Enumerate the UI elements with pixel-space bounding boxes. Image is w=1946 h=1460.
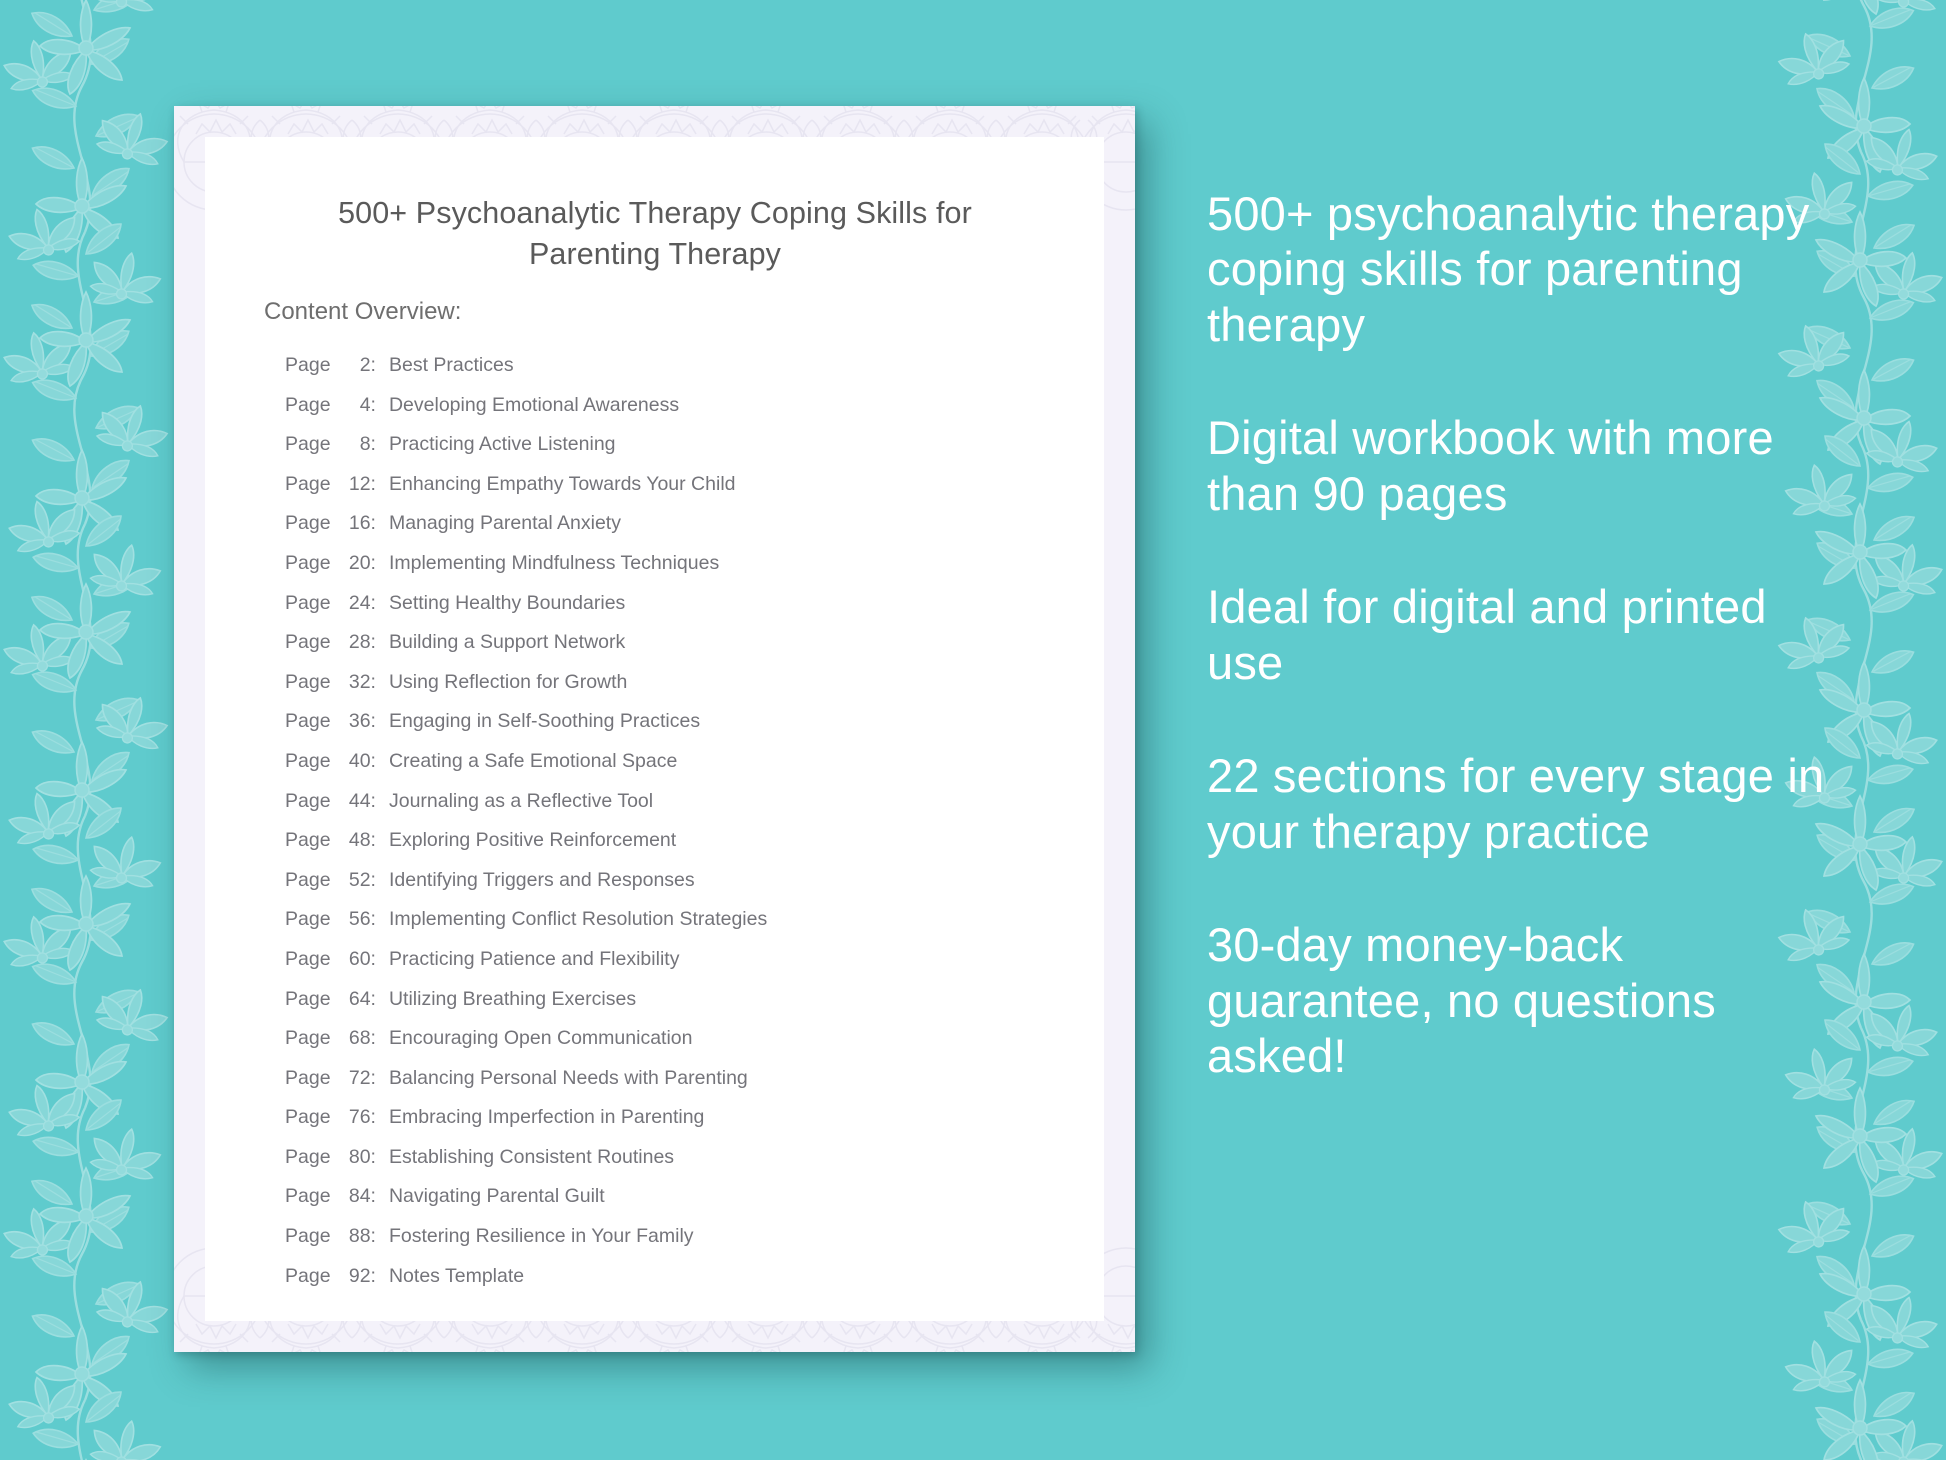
toc-entry-title: Fostering Resilience in Your Family (389, 1225, 694, 1248)
toc-page-number: 2 (337, 354, 371, 377)
toc-colon: : (371, 908, 376, 931)
toc-row: Page 52 : Identifying Triggers and Respo… (285, 869, 1075, 909)
toc-colon: : (371, 869, 376, 892)
toc-page-number: 84 (337, 1185, 371, 1208)
toc-colon: : (371, 829, 376, 852)
toc-page-word: Page (285, 394, 331, 417)
toc-page-word: Page (285, 671, 331, 694)
promo-usage: Ideal for digital and printed use (1207, 579, 1847, 690)
toc-page-word: Page (285, 433, 331, 456)
toc-page-word: Page (285, 1146, 331, 1169)
toc-colon: : (371, 394, 376, 417)
toc-page-word: Page (285, 1265, 331, 1288)
floral-border-left-icon (0, 0, 200, 1460)
table-of-contents: Page 2 : Best Practices Page 4 : Develop… (285, 354, 1075, 1304)
toc-page-word: Page (285, 750, 331, 773)
toc-row: Page 4 : Developing Emotional Awareness (285, 394, 1075, 434)
toc-colon: : (371, 354, 376, 377)
toc-row: Page 2 : Best Practices (285, 354, 1075, 394)
toc-entry-title: Embracing Imperfection in Parenting (389, 1106, 704, 1129)
toc-row: Page 12 : Enhancing Empathy Towards Your… (285, 473, 1075, 513)
toc-page-number: 60 (337, 948, 371, 971)
toc-page-word: Page (285, 592, 331, 615)
toc-entry-title: Building a Support Network (389, 631, 625, 654)
toc-page-word: Page (285, 948, 331, 971)
toc-colon: : (371, 790, 376, 813)
toc-entry-title: Best Practices (389, 354, 514, 377)
toc-entry-title: Notes Template (389, 1265, 524, 1288)
promo-pages: Digital workbook with more than 90 pages (1207, 410, 1847, 521)
toc-row: Page 20 : Implementing Mindfulness Techn… (285, 552, 1075, 592)
toc-page-number: 16 (337, 512, 371, 535)
content-overview-label: Content Overview: (264, 298, 461, 326)
toc-row: Page 80 : Establishing Consistent Routin… (285, 1146, 1075, 1186)
toc-colon: : (371, 1185, 376, 1208)
toc-page-word: Page (285, 710, 331, 733)
toc-page-word: Page (285, 1106, 331, 1129)
toc-entry-title: Implementing Mindfulness Techniques (389, 552, 719, 575)
toc-row: Page 48 : Exploring Positive Reinforceme… (285, 829, 1075, 869)
toc-page-number: 76 (337, 1106, 371, 1129)
toc-row: Page 60 : Practicing Patience and Flexib… (285, 948, 1075, 988)
toc-row: Page 28 : Building a Support Network (285, 631, 1075, 671)
toc-colon: : (371, 1106, 376, 1129)
toc-page-word: Page (285, 829, 331, 852)
toc-entry-title: Balancing Personal Needs with Parenting (389, 1067, 748, 1090)
toc-entry-title: Setting Healthy Boundaries (389, 592, 625, 615)
toc-page-number: 4 (337, 394, 371, 417)
toc-entry-title: Implementing Conflict Resolution Strateg… (389, 908, 767, 931)
toc-page-word: Page (285, 790, 331, 813)
toc-page-word: Page (285, 631, 331, 654)
toc-page-number: 92 (337, 1265, 371, 1288)
toc-entry-title: Engaging in Self-Soothing Practices (389, 710, 700, 733)
toc-page-word: Page (285, 1027, 331, 1050)
toc-entry-title: Practicing Patience and Flexibility (389, 948, 679, 971)
toc-page-number: 36 (337, 710, 371, 733)
toc-colon: : (371, 750, 376, 773)
toc-entry-title: Practicing Active Listening (389, 433, 616, 456)
toc-row: Page 92 : Notes Template (285, 1265, 1075, 1305)
toc-entry-title: Using Reflection for Growth (389, 671, 627, 694)
toc-colon: : (371, 671, 376, 694)
toc-colon: : (371, 710, 376, 733)
promo-sections: 22 sections for every stage in your ther… (1207, 748, 1847, 859)
toc-colon: : (371, 948, 376, 971)
toc-page-word: Page (285, 908, 331, 931)
toc-colon: : (371, 1146, 376, 1169)
toc-entry-title: Journaling as a Reflective Tool (389, 790, 653, 813)
toc-page-word: Page (285, 869, 331, 892)
toc-row: Page 72 : Balancing Personal Needs with … (285, 1067, 1075, 1107)
toc-page-word: Page (285, 1225, 331, 1248)
workbook-page-card: 500+ Psychoanalytic Therapy Coping Skill… (174, 106, 1135, 1352)
toc-page-number: 88 (337, 1225, 371, 1248)
toc-page-word: Page (285, 552, 331, 575)
toc-page-number: 52 (337, 869, 371, 892)
toc-page-number: 44 (337, 790, 371, 813)
toc-row: Page 68 : Encouraging Open Communication (285, 1027, 1075, 1067)
toc-row: Page 24 : Setting Healthy Boundaries (285, 592, 1075, 632)
toc-colon: : (371, 433, 376, 456)
toc-page-word: Page (285, 1185, 331, 1208)
toc-entry-title: Identifying Triggers and Responses (389, 869, 695, 892)
toc-row: Page 88 : Fostering Resilience in Your F… (285, 1225, 1075, 1265)
toc-page-word: Page (285, 512, 331, 535)
toc-page-number: 8 (337, 433, 371, 456)
toc-colon: : (371, 1225, 376, 1248)
toc-row: Page 76 : Embracing Imperfection in Pare… (285, 1106, 1075, 1146)
toc-page-number: 12 (337, 473, 371, 496)
toc-colon: : (371, 1067, 376, 1090)
toc-page-number: 56 (337, 908, 371, 931)
toc-page-number: 20 (337, 552, 371, 575)
promo-headline: 500+ psychoanalytic therapy coping skill… (1207, 186, 1847, 352)
toc-row: Page 44 : Journaling as a Reflective Too… (285, 790, 1075, 830)
toc-row: Page 64 : Utilizing Breathing Exercises (285, 988, 1075, 1028)
toc-entry-title: Creating a Safe Emotional Space (389, 750, 677, 773)
toc-row: Page 8 : Practicing Active Listening (285, 433, 1075, 473)
toc-colon: : (371, 552, 376, 575)
toc-entry-title: Establishing Consistent Routines (389, 1146, 674, 1169)
toc-colon: : (371, 473, 376, 496)
toc-entry-title: Developing Emotional Awareness (389, 394, 679, 417)
toc-page-number: 68 (337, 1027, 371, 1050)
toc-entry-title: Enhancing Empathy Towards Your Child (389, 473, 736, 496)
toc-page-number: 48 (337, 829, 371, 852)
toc-page-word: Page (285, 988, 331, 1011)
toc-page-number: 64 (337, 988, 371, 1011)
toc-entry-title: Exploring Positive Reinforcement (389, 829, 676, 852)
toc-colon: : (371, 988, 376, 1011)
toc-colon: : (371, 512, 376, 535)
toc-page-number: 32 (337, 671, 371, 694)
promo-column: 500+ psychoanalytic therapy coping skill… (1207, 186, 1847, 1083)
page-content-area: 500+ Psychoanalytic Therapy Coping Skill… (205, 137, 1104, 1321)
toc-row: Page 40 : Creating a Safe Emotional Spac… (285, 750, 1075, 790)
toc-row: Page 32 : Using Reflection for Growth (285, 671, 1075, 711)
toc-entry-title: Encouraging Open Communication (389, 1027, 693, 1050)
toc-row: Page 36 : Engaging in Self-Soothing Prac… (285, 710, 1075, 750)
promo-guarantee: 30-day money-back guarantee, no question… (1207, 917, 1847, 1083)
toc-colon: : (371, 631, 376, 654)
toc-entry-title: Navigating Parental Guilt (389, 1185, 605, 1208)
toc-page-number: 80 (337, 1146, 371, 1169)
toc-colon: : (371, 592, 376, 615)
toc-row: Page 16 : Managing Parental Anxiety (285, 512, 1075, 552)
page-title: 500+ Psychoanalytic Therapy Coping Skill… (275, 193, 1035, 275)
toc-colon: : (371, 1027, 376, 1050)
toc-page-word: Page (285, 473, 331, 496)
toc-page-number: 40 (337, 750, 371, 773)
toc-page-number: 24 (337, 592, 371, 615)
toc-entry-title: Utilizing Breathing Exercises (389, 988, 636, 1011)
toc-page-number: 72 (337, 1067, 371, 1090)
toc-page-number: 28 (337, 631, 371, 654)
toc-entry-title: Managing Parental Anxiety (389, 512, 621, 535)
toc-page-word: Page (285, 1067, 331, 1090)
toc-colon: : (371, 1265, 376, 1288)
toc-page-word: Page (285, 354, 331, 377)
toc-row: Page 56 : Implementing Conflict Resoluti… (285, 908, 1075, 948)
toc-row: Page 84 : Navigating Parental Guilt (285, 1185, 1075, 1225)
